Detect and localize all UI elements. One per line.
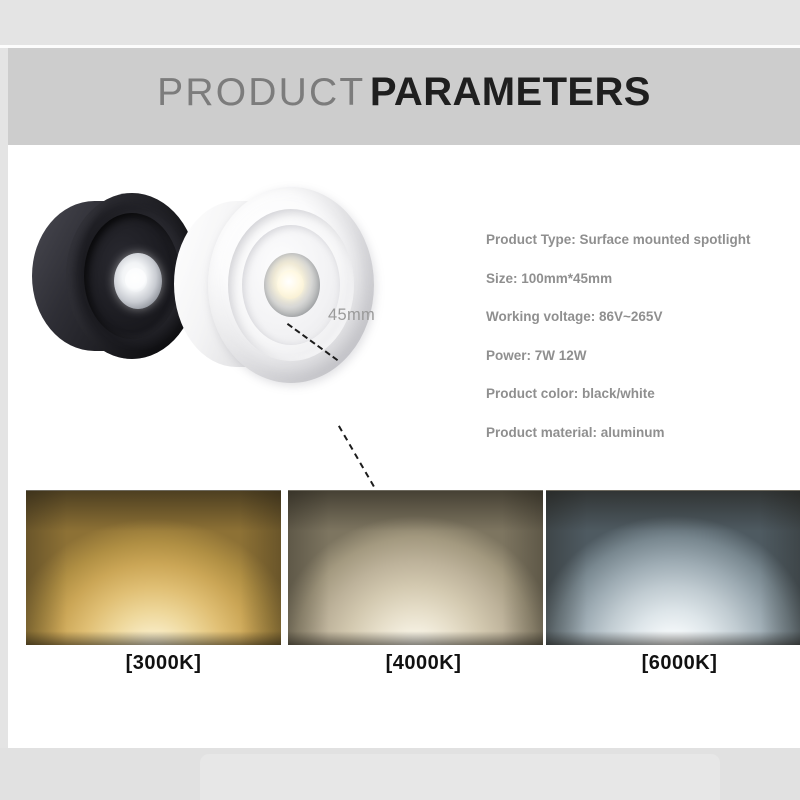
swatch-label-6000k: [6000K] (552, 652, 800, 675)
footer-band (0, 748, 800, 800)
spec-row-product-color: Product color: black/white (486, 387, 796, 401)
header-band: PRODUCT PARAMETERS (8, 48, 800, 145)
spec-list: Product Type: Surface mounted spotlight … (486, 233, 796, 464)
swatch-6000k-vignette (546, 491, 800, 645)
footer-card (200, 754, 720, 800)
color-temperature-swatch-4000k (288, 490, 543, 645)
white-spotlight-led-lens (264, 253, 320, 317)
product-parameters-page: PRODUCT PARAMETERS (0, 0, 800, 800)
white-spotlight-image (174, 187, 374, 383)
color-temperature-swatch-3000k (26, 490, 281, 645)
depth-dimension-label: 45mm (328, 306, 375, 325)
page-title-light: PRODUCT (157, 71, 365, 114)
white-spotlight-led-chip (277, 270, 304, 299)
content-area: 45mm 100mm Product Type: Surface mounted… (8, 145, 800, 748)
white-spotlight-face (208, 187, 374, 383)
white-spotlight-outer-ring (228, 209, 354, 361)
spec-row-size: Size: 100mm*45mm (486, 272, 796, 286)
swatch-3000k-vignette (26, 491, 281, 645)
black-spotlight-reflector-ring (84, 213, 180, 339)
page-title-bold: PARAMETERS (370, 70, 651, 114)
page-title: PRODUCT PARAMETERS (8, 70, 800, 115)
diameter-leader-line (338, 425, 375, 487)
spec-row-product-material: Product material: aluminum (486, 426, 796, 440)
product-photo: 45mm 100mm (8, 145, 478, 445)
spec-row-working-voltage: Working voltage: 86V~265V (486, 310, 796, 324)
spec-row-product-type: Product Type: Surface mounted spotlight (486, 233, 796, 247)
black-spotlight-led-chip (125, 268, 147, 292)
color-temperature-swatch-6000k (546, 490, 800, 645)
black-spotlight-led-lens (114, 253, 162, 309)
top-strip (0, 0, 800, 45)
swatch-label-4000k: [4000K] (296, 652, 551, 675)
spec-row-power: Power: 7W 12W (486, 349, 796, 363)
color-temperature-gallery: [3000K] [4000K] [6000K] (18, 490, 793, 690)
swatch-4000k-vignette (288, 491, 543, 645)
swatch-label-3000k: [3000K] (36, 652, 291, 675)
